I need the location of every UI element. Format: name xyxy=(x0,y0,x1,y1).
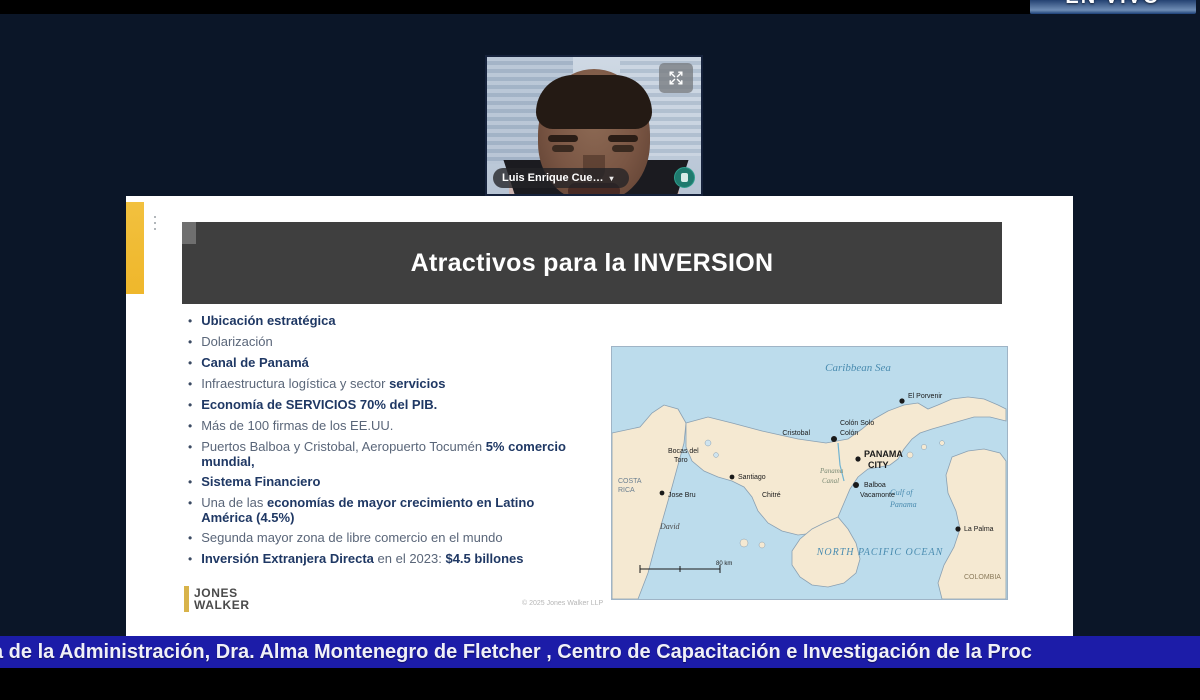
bullet-dot-icon: • xyxy=(188,475,192,490)
bullet-dot-icon: • xyxy=(188,440,192,455)
svg-text:El Porvenir: El Porvenir xyxy=(908,393,943,400)
participant-brow-left xyxy=(548,135,578,142)
accent-bar xyxy=(126,202,144,294)
svg-text:PANAMA: PANAMA xyxy=(864,449,903,459)
svg-text:Bocas del: Bocas del xyxy=(668,448,699,455)
bullet-dot-icon: • xyxy=(188,377,192,392)
participant-eye-right xyxy=(612,145,634,152)
drag-handle-dots[interactable] xyxy=(154,216,156,230)
bullet-dot-icon: • xyxy=(188,314,192,329)
slide-title: Atractivos para la INVERSION xyxy=(411,249,774,278)
svg-text:Jose Bru: Jose Bru xyxy=(668,492,696,499)
video-tile[interactable]: Luis Enrique Cue… ▾ xyxy=(485,55,703,196)
expand-icon[interactable] xyxy=(659,63,693,93)
bullet-item: •Ubicación estratégica xyxy=(188,314,573,329)
bullet-list: •Ubicación estratégica•Dolarización•Cana… xyxy=(188,314,573,573)
bullet-text: Inversión Extranjera Directa en el 2023:… xyxy=(201,552,523,567)
slide-body: •Ubicación estratégica•Dolarización•Cana… xyxy=(182,314,1002,632)
participant-brow-right xyxy=(608,135,638,142)
bullet-dot-icon: • xyxy=(188,496,192,511)
slide-content: Atractivos para la INVERSION •Ubicación … xyxy=(182,222,1002,632)
logo-line-2: WALKER xyxy=(194,599,250,611)
bullet-dot-icon: • xyxy=(188,335,192,350)
participant-name-label[interactable]: Luis Enrique Cue… ▾ xyxy=(493,168,629,188)
svg-text:Colón Solo: Colón Solo xyxy=(840,420,874,427)
svg-text:Vacamonte: Vacamonte xyxy=(860,492,895,499)
jones-walker-logo: JONES WALKER xyxy=(184,586,250,612)
svg-text:Colón: Colón xyxy=(840,430,858,437)
ticker-text: a de la Administración, Dra. Alma Monten… xyxy=(0,641,1032,664)
participant-eye-left xyxy=(552,145,574,152)
svg-text:David: David xyxy=(659,522,681,531)
bullet-item: •Una de las economías de mayor crecimien… xyxy=(188,496,573,525)
panama-map: Caribbean Sea NORTH PACIFIC OCEAN Gulf o… xyxy=(611,346,1008,600)
bullet-text: Ubicación estratégica xyxy=(201,314,335,329)
bullet-dot-icon: • xyxy=(188,398,192,413)
svg-text:Chitré: Chitré xyxy=(762,492,781,499)
participant-name-text: Luis Enrique Cue… xyxy=(502,172,603,184)
svg-text:Canal: Canal xyxy=(822,477,839,485)
bottom-black-bar xyxy=(0,668,1200,700)
svg-text:Panama: Panama xyxy=(889,500,917,509)
bullet-item: •Más de 100 firmas de los EE.UU. xyxy=(188,419,573,434)
bullet-text: Infraestructura logística y sector servi… xyxy=(201,377,445,392)
slide-header: Atractivos para la INVERSION xyxy=(182,222,1002,304)
svg-text:La Palma: La Palma xyxy=(964,526,994,533)
shield-badge-icon xyxy=(674,167,695,188)
bullet-item: •Infraestructura logística y sector serv… xyxy=(188,377,573,392)
bullet-text: Más de 100 firmas de los EE.UU. xyxy=(201,419,393,434)
bullet-item: •Dolarización xyxy=(188,335,573,350)
svg-text:COSTA: COSTA xyxy=(618,478,642,485)
bullet-item: •Inversión Extranjera Directa en el 2023… xyxy=(188,552,573,567)
participant-hair xyxy=(536,75,652,129)
slide-footer: JONES WALKER © 2025 Jones Walker LLP xyxy=(182,586,1002,622)
bullet-text: Economía de SERVICIOS 70% del PIB. xyxy=(201,398,437,413)
bullet-item: •Economía de SERVICIOS 70% del PIB. xyxy=(188,398,573,413)
bullet-text: Canal de Panamá xyxy=(201,356,309,371)
live-badge: EN VIVO xyxy=(1030,0,1196,14)
svg-text:CITY: CITY xyxy=(868,460,889,470)
bullet-text: Segunda mayor zona de libre comercio en … xyxy=(201,531,502,546)
bullet-dot-icon: • xyxy=(188,531,192,546)
svg-text:Caribbean Sea: Caribbean Sea xyxy=(825,362,891,374)
bullet-text: Puertos Balboa y Cristobal, Aeropuerto T… xyxy=(201,440,573,469)
svg-text:COLOMBIA: COLOMBIA xyxy=(964,574,1001,581)
svg-text:Balboa: Balboa xyxy=(864,482,886,489)
svg-text:NORTH PACIFIC OCEAN: NORTH PACIFIC OCEAN xyxy=(816,547,944,558)
svg-text:Santiago: Santiago xyxy=(738,474,766,481)
svg-text:80 km: 80 km xyxy=(716,561,732,567)
bullet-item: •Canal de Panamá xyxy=(188,356,573,371)
slide-panel: Atractivos para la INVERSION •Ubicación … xyxy=(126,196,1073,648)
bullet-item: •Segunda mayor zona de libre comercio en… xyxy=(188,531,573,546)
svg-text:RICA: RICA xyxy=(618,487,635,494)
news-ticker: a de la Administración, Dra. Alma Monten… xyxy=(0,636,1200,668)
svg-text:Cristobal: Cristobal xyxy=(782,430,810,437)
copyright-text: © 2025 Jones Walker LLP xyxy=(522,600,603,607)
bullet-text: Dolarización xyxy=(201,335,273,350)
svg-text:Toro: Toro xyxy=(674,457,688,464)
bullet-dot-icon: • xyxy=(188,552,192,567)
chevron-down-icon[interactable]: ▾ xyxy=(609,174,613,183)
bullet-item: •Puertos Balboa y Cristobal, Aeropuerto … xyxy=(188,440,573,469)
live-badge-label: EN VIVO xyxy=(1065,0,1160,6)
bullet-dot-icon: • xyxy=(188,419,192,434)
bullet-item: •Sistema Financiero xyxy=(188,475,573,490)
svg-text:Panama: Panama xyxy=(819,467,844,475)
bullet-text: Una de las economías de mayor crecimient… xyxy=(201,496,573,525)
bullet-text: Sistema Financiero xyxy=(201,475,320,490)
logo-accent-bar xyxy=(184,586,189,612)
top-black-bar xyxy=(0,0,1030,14)
bullet-dot-icon: • xyxy=(188,356,192,371)
